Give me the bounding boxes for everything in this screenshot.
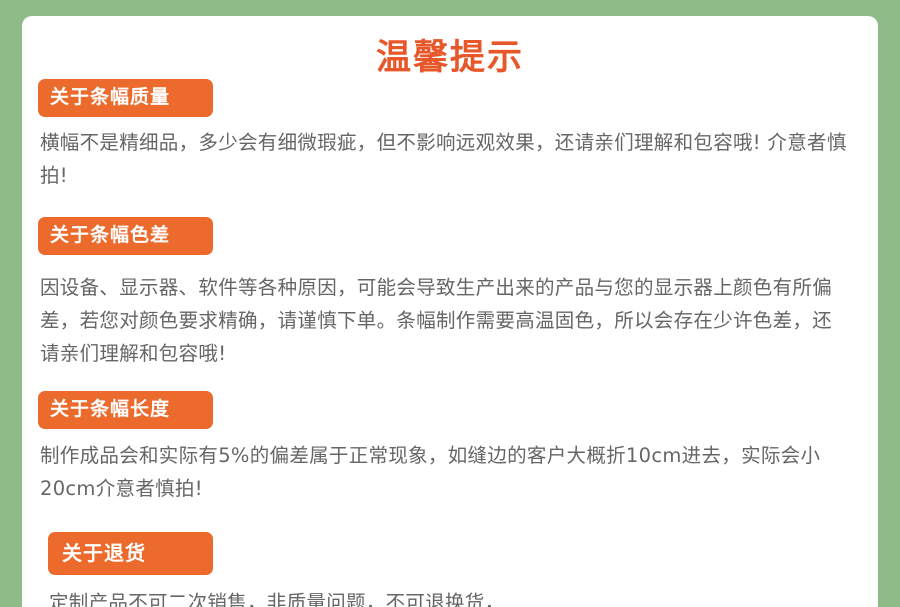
notice-panel: 温馨提示 关于条幅质量 横幅不是精细品，多少会有细微瑕疵，但不影响远观效果，还请… — [22, 16, 878, 607]
section-color-difference: 关于条幅色差 因设备、显示器、软件等各种原因，可能会导致生产出来的产品与您的显示… — [22, 192, 878, 370]
section-body-banner-length: 制作成品会和实际有5%的偏差属于正常现象，如缝边的客户大概折10cm进去，实际会… — [40, 439, 848, 505]
page-title: 温馨提示 — [22, 16, 878, 79]
section-body-color-difference: 因设备、显示器、软件等各种原因，可能会导致生产出来的产品与您的显示器上颜色有所偏… — [40, 271, 848, 370]
section-banner-length: 关于条幅长度 制作成品会和实际有5%的偏差属于正常现象，如缝边的客户大概折10c… — [22, 370, 878, 505]
section-badge-banner-quality: 关于条幅质量 — [38, 79, 213, 117]
section-body-returns: 定制产品不可二次销售，非质量问题，不可退换货， — [49, 586, 848, 607]
section-returns: 关于退货 定制产品不可二次销售，非质量问题，不可退换货， 重要说明:因色差、尺寸… — [22, 505, 878, 607]
section-badge-banner-length: 关于条幅长度 — [38, 391, 213, 429]
section-banner-quality: 关于条幅质量 横幅不是精细品，多少会有细微瑕疵，但不影响远观效果，还请亲们理解和… — [22, 79, 878, 192]
section-badge-color-difference: 关于条幅色差 — [38, 217, 213, 255]
section-body-banner-quality: 横幅不是精细品，多少会有细微瑕疵，但不影响远观效果，还请亲们理解和包容哦! 介意… — [40, 126, 848, 192]
notice-sections: 关于条幅质量 横幅不是精细品，多少会有细微瑕疵，但不影响远观效果，还请亲们理解和… — [22, 79, 878, 607]
notice-page: 温馨提示 关于条幅质量 横幅不是精细品，多少会有细微瑕疵，但不影响远观效果，还请… — [0, 0, 900, 607]
section-badge-returns: 关于退货 — [48, 532, 213, 575]
